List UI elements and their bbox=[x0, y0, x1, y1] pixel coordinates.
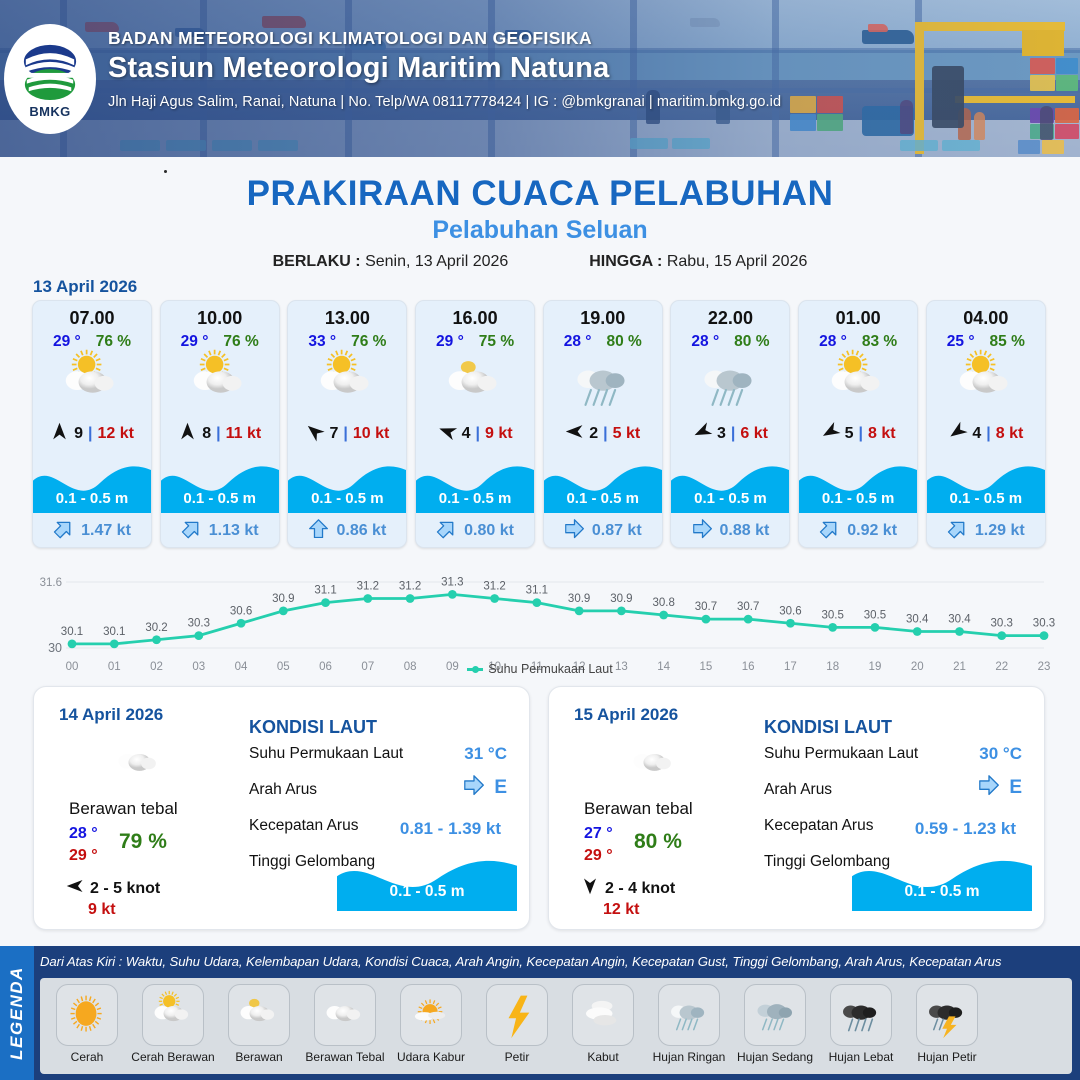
wind-direction-icon bbox=[50, 422, 69, 446]
sea-condition-title: KONDISI LAUT bbox=[764, 717, 892, 738]
legend-item: Cerah Berawan bbox=[130, 984, 216, 1064]
day-wind-range: 2 - 4 knot bbox=[605, 880, 675, 898]
legend-item: Hujan Sedang bbox=[732, 984, 818, 1064]
card-time: 22.00 bbox=[671, 308, 789, 329]
day-humidity: 79 % bbox=[119, 830, 167, 854]
legend-item-label: Udara Kabur bbox=[397, 1050, 465, 1064]
valid-from-value: Senin, 13 April 2026 bbox=[365, 253, 508, 270]
current-direction-icon bbox=[53, 519, 74, 543]
hujan-sedang-icon bbox=[744, 984, 806, 1046]
gust-speed: 6 kt bbox=[740, 425, 768, 443]
legend-item: Udara Kabur bbox=[388, 984, 474, 1064]
hujan-ringan-icon bbox=[658, 984, 720, 1046]
separator: | bbox=[475, 425, 479, 443]
current-direction-icon bbox=[436, 519, 457, 543]
label-current-speed: Kecepatan Arus bbox=[249, 817, 358, 835]
label-sea-surface-temp: Suhu Permukaan Laut bbox=[764, 745, 918, 763]
wind-speed: 8 bbox=[202, 425, 211, 443]
gust-speed: 12 kt bbox=[97, 425, 133, 443]
legend-item-label: Berawan bbox=[235, 1050, 282, 1064]
card-time: 19.00 bbox=[544, 308, 662, 329]
forecast-card[interactable]: 07.00 29 ° 76 % 9 | 12 kt 0.1 - 0.5 m 1.… bbox=[32, 300, 152, 548]
svg-text:31.2: 31.2 bbox=[399, 581, 421, 593]
legend-item-label: Cerah bbox=[71, 1050, 104, 1064]
label-current-speed: Kecepatan Arus bbox=[764, 817, 873, 835]
current-speed: 1.29 kt bbox=[975, 522, 1025, 540]
wind-direction-icon bbox=[438, 422, 457, 446]
current-direction-icon bbox=[564, 519, 585, 543]
forecast-card[interactable]: 19.00 28 ° 80 % 2 | 5 kt 0.1 - 0.5 m 0.8… bbox=[543, 300, 663, 548]
current-speed: 1.47 kt bbox=[81, 522, 131, 540]
wave-height: 0.1 - 0.5 m bbox=[927, 490, 1045, 507]
wind-speed: 9 bbox=[74, 425, 83, 443]
day-sea-surface-temp: 30 °C bbox=[979, 744, 1022, 764]
forecast-card[interactable]: 16.00 29 ° 75 % 4 | 9 kt 0.1 - 0.5 m 0.8… bbox=[415, 300, 535, 548]
separator: | bbox=[603, 425, 607, 443]
berawan-tebal-icon bbox=[609, 735, 699, 793]
legend-item: Petir bbox=[474, 984, 560, 1064]
forecast-card[interactable]: 22.00 28 ° 80 % 3 | 6 kt 0.1 - 0.5 m 0.8… bbox=[670, 300, 790, 548]
card-time: 16.00 bbox=[416, 308, 534, 329]
card-time: 07.00 bbox=[33, 308, 151, 329]
day-current-direction: E bbox=[463, 775, 507, 800]
legend-icon-row: Cerah Cerah Berawan Berawan Berawan Teba… bbox=[40, 978, 1072, 1074]
current-direction-icon bbox=[947, 519, 968, 543]
svg-text:30.1: 30.1 bbox=[103, 626, 125, 638]
valid-to-value: Rabu, 15 April 2026 bbox=[667, 253, 808, 270]
wind-direction-icon bbox=[565, 422, 584, 446]
svg-text:31.1: 31.1 bbox=[314, 585, 336, 597]
svg-text:30.7: 30.7 bbox=[737, 601, 759, 613]
svg-text:30.3: 30.3 bbox=[1033, 618, 1055, 630]
gust-speed: 11 kt bbox=[226, 425, 262, 443]
cerah-berawan-icon bbox=[142, 984, 204, 1046]
chart-legend-marker-icon bbox=[467, 668, 483, 671]
station-name: Stasiun Meteorologi Maritim Natuna bbox=[108, 52, 781, 85]
port-name: Pelabuhan Seluan bbox=[0, 216, 1080, 245]
svg-text:30.4: 30.4 bbox=[948, 614, 971, 626]
svg-text:30.2: 30.2 bbox=[145, 622, 167, 634]
legend-item: Kabut bbox=[560, 984, 646, 1064]
day-condition: Berawan tebal bbox=[69, 799, 178, 819]
day-condition: Berawan tebal bbox=[584, 799, 693, 819]
svg-text:30.5: 30.5 bbox=[864, 609, 886, 621]
page-title: PRAKIRAAN CUACA PELABUHAN bbox=[0, 174, 1080, 214]
separator: | bbox=[986, 425, 990, 443]
wind-direction-icon bbox=[305, 422, 324, 446]
forecast-card[interactable]: 13.00 33 ° 76 % 7 | 10 kt 0.1 - 0.5 m 0.… bbox=[287, 300, 407, 548]
day-humidity: 80 % bbox=[634, 830, 682, 854]
forecast-date-label: 13 April 2026 bbox=[33, 277, 137, 297]
svg-text:30.5: 30.5 bbox=[822, 609, 844, 621]
day-gust: 9 kt bbox=[88, 901, 116, 919]
wind-speed: 4 bbox=[462, 425, 471, 443]
gust-speed: 8 kt bbox=[996, 425, 1024, 443]
forecast-card[interactable]: 01.00 28 ° 83 % 5 | 8 kt 0.1 - 0.5 m 0.9… bbox=[798, 300, 918, 548]
organization-name: BADAN METEOROLOGI KLIMATOLOGI DAN GEOFIS… bbox=[108, 28, 781, 49]
legend-item-label: Kabut bbox=[587, 1050, 618, 1064]
gust-speed: 8 kt bbox=[868, 425, 896, 443]
svg-text:30.9: 30.9 bbox=[610, 593, 632, 605]
svg-text:30.3: 30.3 bbox=[188, 618, 210, 630]
udara-kabur-icon bbox=[400, 984, 462, 1046]
label-current-direction: Arah Arus bbox=[249, 781, 317, 799]
sea-condition-title: KONDISI LAUT bbox=[249, 717, 377, 738]
svg-text:31.6: 31.6 bbox=[40, 577, 62, 589]
current-direction-icon bbox=[308, 519, 329, 543]
chart-legend-label: Suhu Permukaan Laut bbox=[488, 662, 612, 676]
chart-legend: Suhu Permukaan Laut bbox=[0, 662, 1080, 676]
legend-item-label: Hujan Sedang bbox=[737, 1050, 813, 1064]
day-temp-max: 29 ° bbox=[584, 847, 613, 865]
wave-graphic bbox=[337, 853, 517, 911]
cerah-berawan-icon bbox=[288, 354, 406, 414]
petir-icon bbox=[486, 984, 548, 1046]
wave-height: 0.1 - 0.5 m bbox=[161, 490, 279, 507]
day-current-direction: E bbox=[978, 775, 1022, 800]
decor-dot bbox=[164, 170, 167, 173]
wind-direction-icon bbox=[178, 422, 197, 446]
day-temp-max: 29 ° bbox=[69, 847, 98, 865]
day-current-direction-text: E bbox=[1009, 777, 1022, 799]
day-wave-height: 0.1 - 0.5 m bbox=[337, 883, 517, 901]
hourly-forecast-cards: 07.00 29 ° 76 % 9 | 12 kt 0.1 - 0.5 m 1.… bbox=[32, 300, 1048, 548]
wind-direction-icon bbox=[821, 422, 840, 446]
berawan-tebal-icon bbox=[314, 984, 376, 1046]
cerah-berawan-icon bbox=[927, 354, 1045, 414]
cerah-berawan-icon bbox=[161, 354, 279, 414]
day-wind: 2 - 4 knot bbox=[581, 877, 675, 900]
svg-text:30.3: 30.3 bbox=[991, 618, 1013, 630]
separator: | bbox=[731, 425, 735, 443]
svg-text:30.9: 30.9 bbox=[272, 593, 294, 605]
legend-item: Hujan Lebat bbox=[818, 984, 904, 1064]
cerah-icon bbox=[56, 984, 118, 1046]
berawan-tebal-icon bbox=[94, 735, 184, 793]
legend-item: Hujan Ringan bbox=[646, 984, 732, 1064]
wave-height: 0.1 - 0.5 m bbox=[416, 490, 534, 507]
forecast-card[interactable]: 04.00 25 ° 85 % 4 | 8 kt 0.1 - 0.5 m 1.2… bbox=[926, 300, 1046, 548]
wind-speed: 5 bbox=[845, 425, 854, 443]
current-speed: 0.80 kt bbox=[464, 522, 514, 540]
separator: | bbox=[216, 425, 220, 443]
day-temp-min: 28 ° bbox=[69, 825, 98, 843]
separator: | bbox=[88, 425, 92, 443]
svg-text:30.4: 30.4 bbox=[906, 614, 929, 626]
svg-text:30.9: 30.9 bbox=[568, 593, 590, 605]
day-current-direction-text: E bbox=[494, 777, 507, 799]
legend-item: Berawan bbox=[216, 984, 302, 1064]
hujan-lebat-icon bbox=[830, 984, 892, 1046]
legend-side-title: LEGENDA bbox=[0, 946, 34, 1080]
legend-section: LEGENDA Dari Atas Kiri : Waktu, Suhu Uda… bbox=[0, 946, 1080, 1080]
legend-item-label: Hujan Ringan bbox=[653, 1050, 726, 1064]
separator: | bbox=[859, 425, 863, 443]
wind-speed: 4 bbox=[972, 425, 981, 443]
wind-speed: 3 bbox=[717, 425, 726, 443]
gust-speed: 9 kt bbox=[485, 425, 513, 443]
cerah-berawan-icon bbox=[799, 354, 917, 414]
day-current-speed: 0.81 - 1.39 kt bbox=[400, 819, 501, 839]
wave-height: 0.1 - 0.5 m bbox=[799, 490, 917, 507]
legend-item: Berawan Tebal bbox=[302, 984, 388, 1064]
legend-side-text: LEGENDA bbox=[7, 966, 27, 1060]
hujan-ringan-icon bbox=[671, 354, 789, 414]
current-speed: 1.13 kt bbox=[209, 522, 259, 540]
day-wind-range: 2 - 5 knot bbox=[90, 880, 160, 898]
separator: | bbox=[343, 425, 347, 443]
svg-text:31.2: 31.2 bbox=[357, 581, 379, 593]
day-temp-min: 27 ° bbox=[584, 825, 613, 843]
legend-item-label: Cerah Berawan bbox=[131, 1050, 214, 1064]
current-speed: 0.88 kt bbox=[720, 522, 770, 540]
label-current-direction: Arah Arus bbox=[764, 781, 832, 799]
day-current-speed: 0.59 - 1.23 kt bbox=[915, 819, 1016, 839]
svg-text:31.2: 31.2 bbox=[483, 581, 505, 593]
card-time: 01.00 bbox=[799, 308, 917, 329]
hujan-petir-icon bbox=[916, 984, 978, 1046]
label-sea-surface-temp: Suhu Permukaan Laut bbox=[249, 745, 403, 763]
bmkg-logo: BMKG bbox=[4, 24, 96, 134]
page-header: BMKG BADAN METEOROLOGI KLIMATOLOGI DAN G… bbox=[0, 0, 1080, 157]
current-speed: 0.87 kt bbox=[592, 522, 642, 540]
legend-item: Hujan Petir bbox=[904, 984, 990, 1064]
bmkg-logo-mark bbox=[21, 40, 79, 102]
forecast-card[interactable]: 10.00 29 ° 76 % 8 | 11 kt 0.1 - 0.5 m 1.… bbox=[160, 300, 280, 548]
svg-text:31.3: 31.3 bbox=[441, 576, 463, 588]
current-speed: 0.86 kt bbox=[336, 522, 386, 540]
legend-item: Cerah bbox=[44, 984, 130, 1064]
contact-info: Jln Haji Agus Salim, Ranai, Natuna | No.… bbox=[108, 94, 781, 110]
validity-period: BERLAKU : Senin, 13 April 2026 HINGGA : … bbox=[0, 253, 1080, 271]
berawan-icon bbox=[228, 984, 290, 1046]
card-time: 10.00 bbox=[161, 308, 279, 329]
svg-text:31.1: 31.1 bbox=[526, 585, 548, 597]
svg-text:30.6: 30.6 bbox=[230, 605, 252, 617]
wind-direction-icon bbox=[581, 877, 599, 900]
card-time: 13.00 bbox=[288, 308, 406, 329]
valid-to-label: HINGGA : bbox=[589, 253, 662, 270]
wave-height: 0.1 - 0.5 m bbox=[33, 490, 151, 507]
hujan-ringan-icon bbox=[544, 354, 662, 414]
valid-from-label: BERLAKU : bbox=[273, 253, 361, 270]
day-wave-height: 0.1 - 0.5 m bbox=[852, 883, 1032, 901]
legend-note: Dari Atas Kiri : Waktu, Suhu Udara, Kele… bbox=[40, 954, 1075, 969]
cerah-berawan-icon bbox=[33, 354, 151, 414]
wind-speed: 2 bbox=[589, 425, 598, 443]
svg-text:30: 30 bbox=[48, 641, 62, 655]
current-speed: 0.92 kt bbox=[847, 522, 897, 540]
legend-item-label: Berawan Tebal bbox=[305, 1050, 384, 1064]
kabut-icon bbox=[572, 984, 634, 1046]
current-direction-icon bbox=[978, 775, 1000, 800]
gust-speed: 5 kt bbox=[613, 425, 641, 443]
daily-panel-15-april: 15 April 2026 Berawan tebal 27 ° 29 ° 80… bbox=[548, 686, 1045, 930]
svg-text:30.7: 30.7 bbox=[695, 601, 717, 613]
day-gust: 12 kt bbox=[603, 901, 639, 919]
wind-direction-icon bbox=[693, 422, 712, 446]
svg-text:30.8: 30.8 bbox=[652, 597, 674, 609]
legend-item-label: Petir bbox=[505, 1050, 530, 1064]
berawan-icon bbox=[416, 354, 534, 414]
current-direction-icon bbox=[181, 519, 202, 543]
wind-speed: 7 bbox=[329, 425, 338, 443]
wave-height: 0.1 - 0.5 m bbox=[288, 490, 406, 507]
wave-graphic bbox=[852, 853, 1032, 911]
svg-text:30.1: 30.1 bbox=[61, 626, 83, 638]
bmkg-logo-text: BMKG bbox=[29, 104, 70, 119]
current-direction-icon bbox=[819, 519, 840, 543]
daily-panel-14-april: 14 April 2026 Berawan tebal 28 ° 29 ° 79… bbox=[33, 686, 530, 930]
gust-speed: 10 kt bbox=[353, 425, 389, 443]
svg-text:30.6: 30.6 bbox=[779, 605, 801, 617]
current-direction-icon bbox=[463, 775, 485, 800]
current-direction-icon bbox=[692, 519, 713, 543]
wave-height: 0.1 - 0.5 m bbox=[671, 490, 789, 507]
day-date: 15 April 2026 bbox=[574, 705, 678, 725]
legend-item-label: Hujan Lebat bbox=[829, 1050, 894, 1064]
day-date: 14 April 2026 bbox=[59, 705, 163, 725]
day-sea-surface-temp: 31 °C bbox=[464, 744, 507, 764]
legend-item-label: Hujan Petir bbox=[917, 1050, 976, 1064]
wave-height: 0.1 - 0.5 m bbox=[544, 490, 662, 507]
card-time: 04.00 bbox=[927, 308, 1045, 329]
wind-direction-icon bbox=[948, 422, 967, 446]
day-wind: 2 - 5 knot bbox=[66, 877, 160, 900]
wind-direction-icon bbox=[66, 877, 84, 900]
